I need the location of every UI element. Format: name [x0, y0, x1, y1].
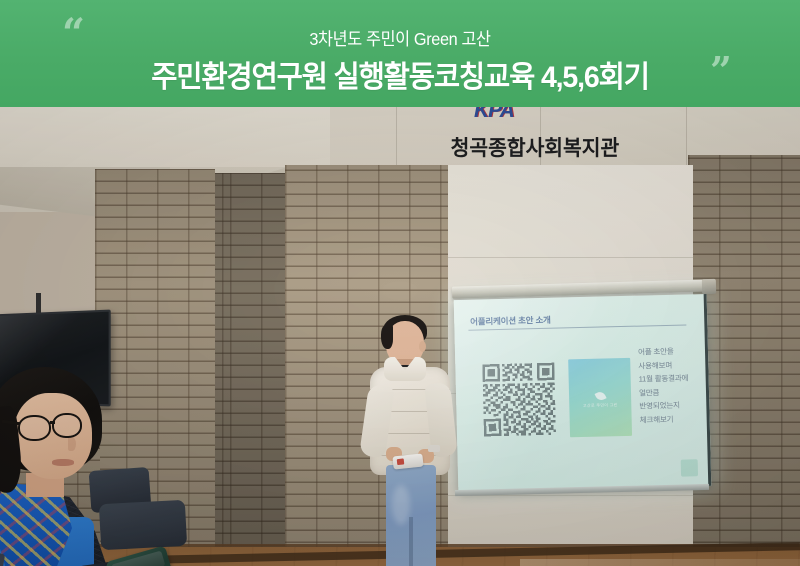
- screenshot-root: “ 3차년도 주민이 Green 고산 주민환경연구원 실행활동코칭교육 4,5…: [0, 0, 800, 566]
- attendee-nose: [68, 437, 76, 451]
- projector-roller-cap: [702, 279, 716, 294]
- presenter-wristwatch: [428, 445, 440, 452]
- slide-line: 체크해보기: [640, 412, 710, 427]
- presenter-hair-side: [381, 325, 393, 349]
- smartphone: [105, 545, 177, 566]
- smartphone-screen: [111, 551, 165, 566]
- glasses-right-lens-icon: [52, 413, 82, 438]
- glasses-left-lens-icon: [18, 415, 51, 441]
- event-photo: KPA 청곡종합사회복지관 어플리케이션 초안 소개: [0, 107, 800, 566]
- header-banner: “ 3차년도 주민이 Green 고산 주민환경연구원 실행활동코칭교육 4,5…: [0, 0, 800, 107]
- quote-close-icon: ”: [710, 52, 731, 90]
- brick-wall-alcove: [215, 173, 285, 558]
- slide-corner-logo: [681, 459, 698, 476]
- app-preview-thumbnail: 고산로 주민이 그린: [568, 358, 632, 437]
- slide-title: 어플리케이션 초안 소개: [470, 314, 551, 328]
- presenter-jeans-highlight: [392, 485, 410, 525]
- presenter-person: [362, 217, 472, 566]
- attendee-lips: [52, 459, 74, 466]
- presenter-ear: [419, 341, 426, 352]
- app-preview-caption: 고산로 주민이 그린: [569, 402, 631, 410]
- attendee-person: [0, 367, 212, 566]
- banner-title: 주민환경연구원 실행활동코칭교육 4,5,6회기: [20, 52, 780, 96]
- facility-name-sign: 청곡종합사회복지관: [451, 132, 620, 162]
- glasses-bridge-icon: [50, 421, 55, 424]
- projector-screen: 어플리케이션 초안 소개: [454, 294, 712, 492]
- presenter-leg-seam: [409, 517, 413, 566]
- leaf-icon: [595, 390, 607, 402]
- facility-logo: KPA: [474, 107, 514, 123]
- floor-light-reflection: [520, 559, 800, 566]
- banner-subtitle: 3차년도 주민이 Green 고산: [28, 26, 772, 51]
- slide-text-block: 어플 초안을 사용해보며 11월 활동결과에 얼만큼 반영되었는지 체크해보기: [638, 344, 710, 427]
- qr-code-icon: [482, 361, 556, 439]
- clicker-button-icon: [397, 458, 405, 465]
